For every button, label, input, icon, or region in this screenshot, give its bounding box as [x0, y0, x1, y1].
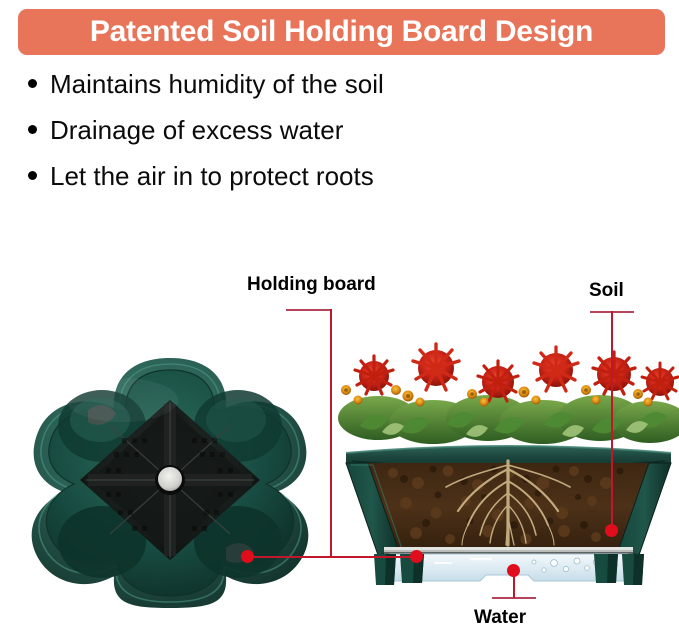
bullet-dot-icon [28, 171, 37, 180]
holding-board-leader-tbar [286, 309, 330, 311]
callout-label-soil: Soil [589, 280, 624, 302]
feature-text: Drainage of excess water [50, 116, 343, 145]
feature-text: Let the air in to protect roots [50, 162, 374, 191]
feature-text: Maintains humidity of the soil [50, 70, 384, 99]
water-marker-dot [507, 564, 520, 577]
bullet-dot-icon [28, 79, 37, 88]
soil-layer [368, 461, 649, 551]
clover-planter-top-view [14, 352, 326, 614]
holding-board-leader-vertical [330, 309, 332, 557]
list-item: Maintains humidity of the soil [28, 70, 528, 102]
header-banner: Patented Soil Holding Board Design [18, 9, 665, 55]
holding-board-marker-dot-left [241, 550, 254, 563]
callout-label-water: Water [474, 607, 526, 629]
callout-label-holding-board: Holding board [247, 274, 376, 296]
soil-marker-dot [605, 524, 618, 537]
list-item: Let the air in to protect roots [28, 162, 528, 194]
feature-list: Maintains humidity of the soil Drainage … [28, 70, 528, 208]
infographic-page: Patented Soil Holding Board Design Maint… [0, 0, 679, 635]
list-item: Drainage of excess water [28, 116, 528, 148]
page-title: Patented Soil Holding Board Design [90, 17, 593, 47]
bullet-dot-icon [28, 125, 37, 134]
holding-board-marker-dot-right [410, 550, 423, 563]
red-blooms [355, 344, 678, 401]
chrysanthemum-flowers [338, 330, 679, 445]
holding-board-leader-horizontal [247, 556, 417, 558]
soil-leader-vertical [611, 311, 613, 530]
